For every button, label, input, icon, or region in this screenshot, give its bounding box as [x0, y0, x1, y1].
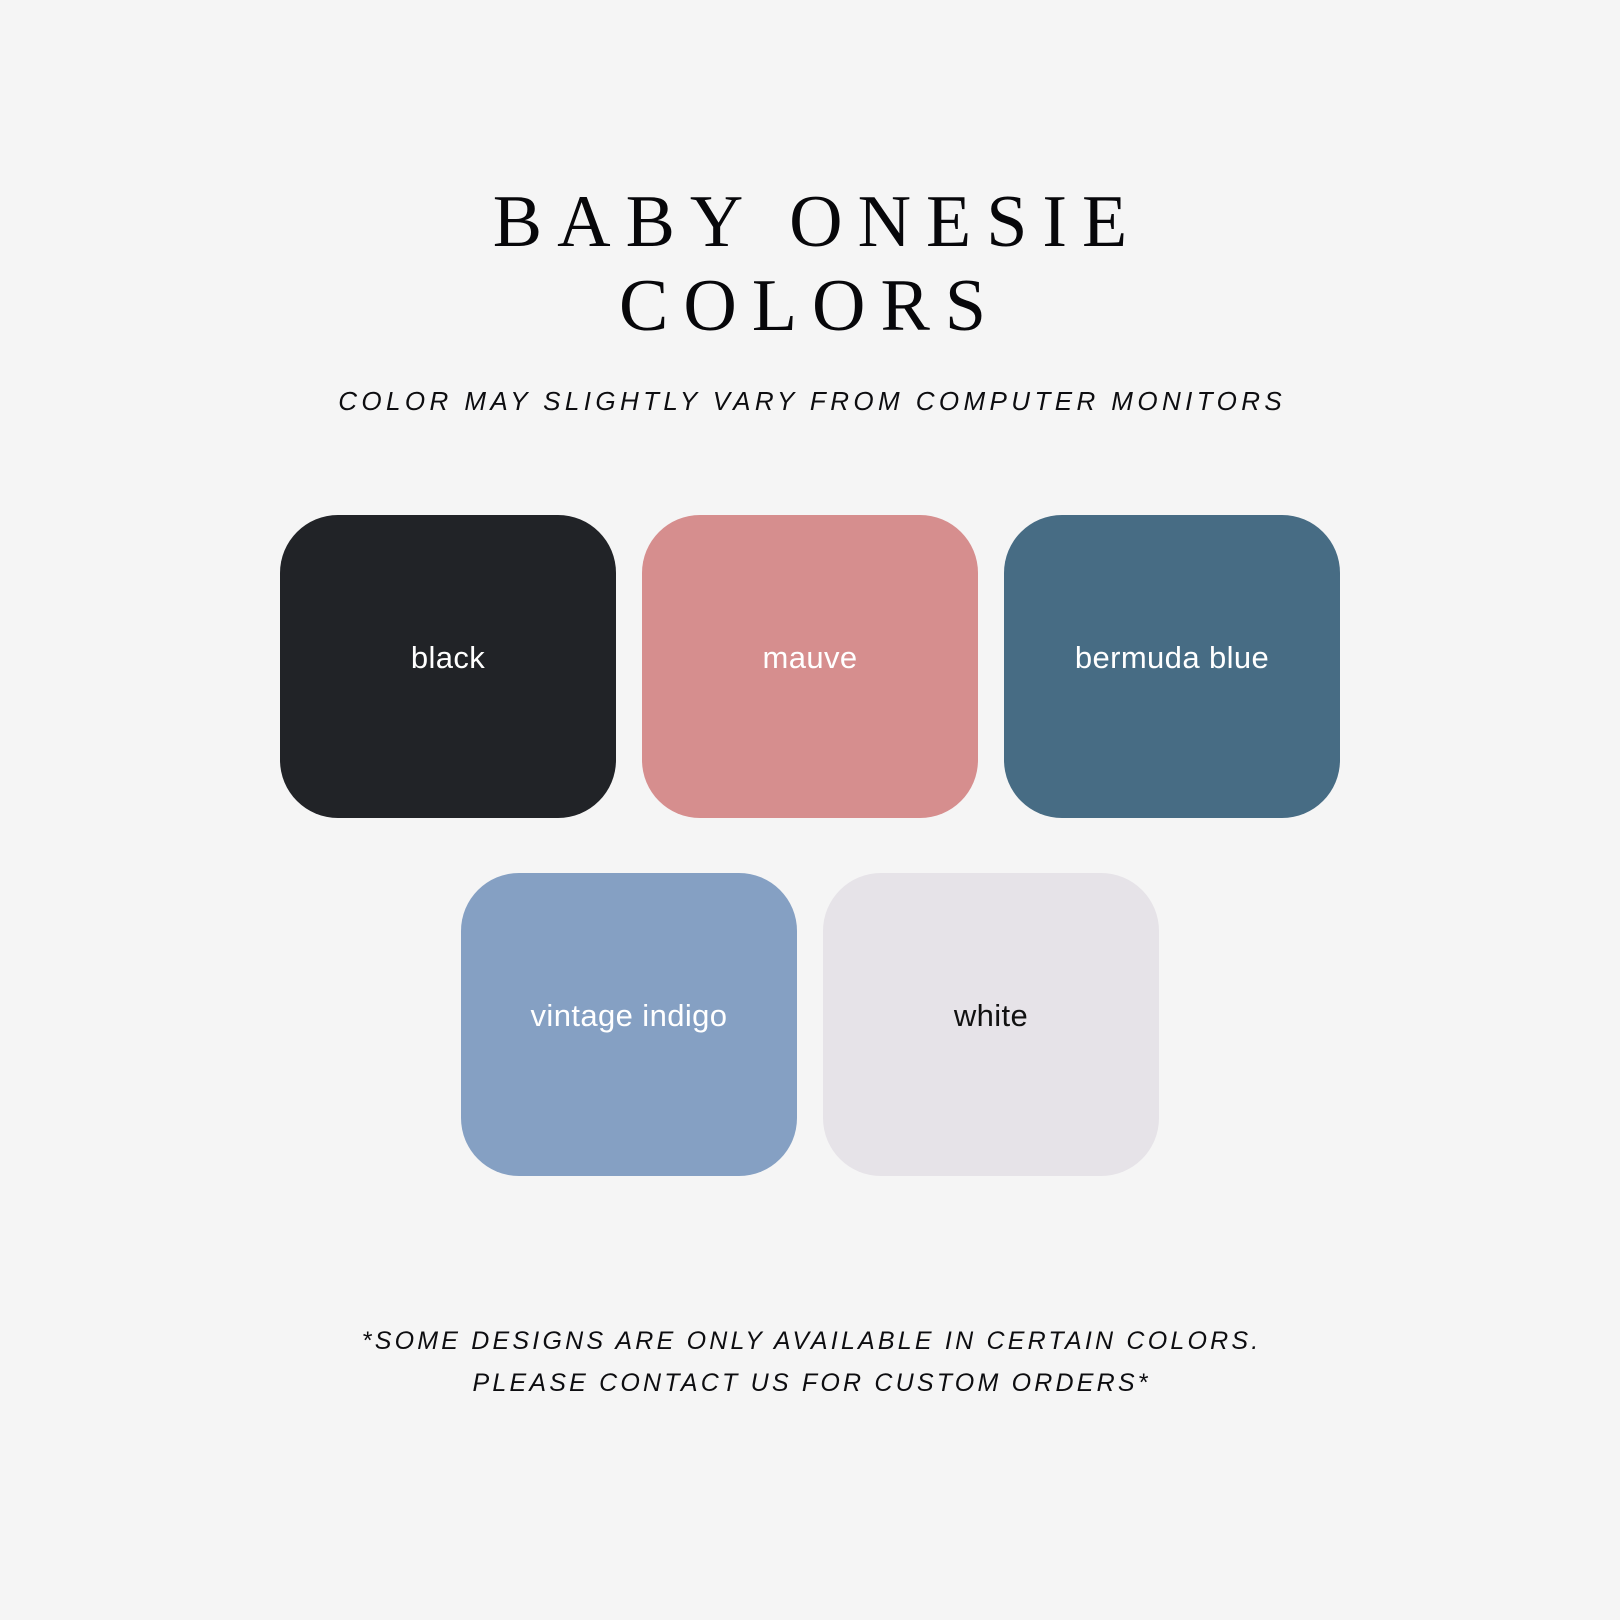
swatch-row-2: vintage indigo white: [0, 873, 1620, 1176]
color-swatch-label: mauve: [762, 642, 857, 673]
color-chart-poster: BABY ONESIE COLORS COLOR MAY SLIGHTLY VA…: [0, 0, 1620, 1620]
color-swatch-mauve[interactable]: mauve: [642, 515, 978, 818]
swatch-row-1: black mauve bermuda blue: [0, 515, 1620, 818]
color-swatch-vintage-indigo[interactable]: vintage indigo: [461, 873, 797, 1176]
color-swatch-label: white: [954, 1000, 1028, 1031]
footer-note-line-1: *SOME DESIGNS ARE ONLY AVAILABLE IN CERT…: [0, 1320, 1620, 1362]
footer-note-line-2: PLEASE CONTACT US FOR CUSTOM ORDERS*: [0, 1362, 1620, 1404]
page-subtitle: COLOR MAY SLIGHTLY VARY FROM COMPUTER MO…: [0, 348, 1620, 417]
color-swatch-grid: black mauve bermuda blue vintage indigo …: [0, 515, 1620, 1176]
color-swatch-bermuda-blue[interactable]: bermuda blue: [1004, 515, 1340, 818]
poster-footer: *SOME DESIGNS ARE ONLY AVAILABLE IN CERT…: [0, 1320, 1620, 1404]
color-swatch-label: vintage indigo: [531, 1000, 728, 1031]
page-title: BABY ONESIE COLORS: [0, 180, 1620, 348]
color-swatch-black[interactable]: black: [280, 515, 616, 818]
poster-header: BABY ONESIE COLORS COLOR MAY SLIGHTLY VA…: [0, 180, 1620, 417]
color-swatch-label: black: [411, 642, 485, 673]
color-swatch-label: bermuda blue: [1075, 642, 1269, 673]
color-swatch-white[interactable]: white: [823, 873, 1159, 1176]
